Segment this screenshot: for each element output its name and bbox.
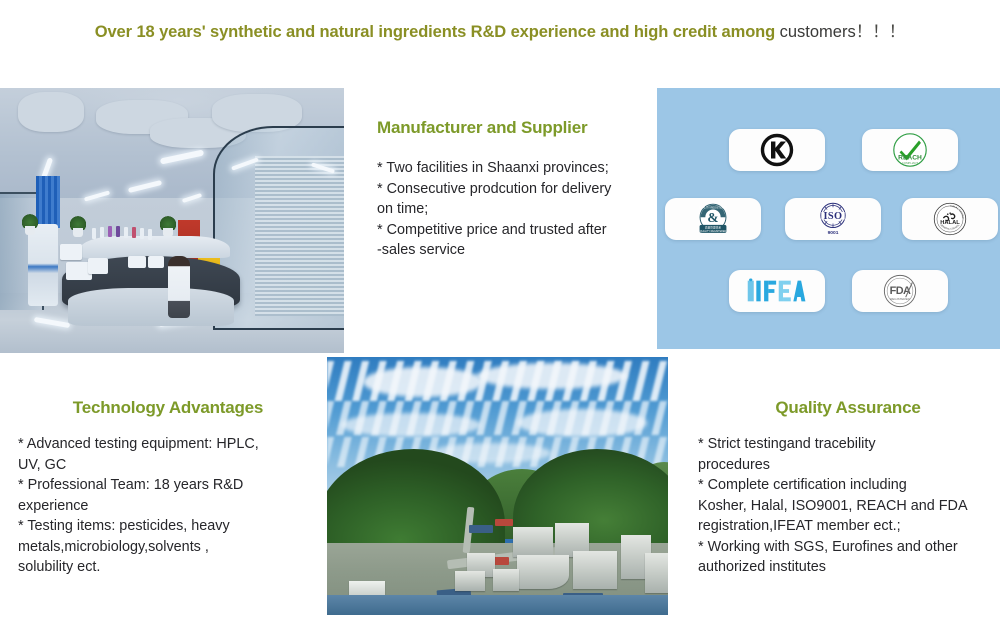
manufacturer-title: Manufacturer and Supplier [377,118,649,138]
quality-seal-icon: QUALITY REGISTERED & 质量管理体系 QUALITY REGI… [692,202,734,236]
laboratory-photo [0,88,344,353]
svg-text:COMPLIANT: COMPLIANT [902,161,918,165]
certification-badge-quality-seal[interactable]: QUALITY REGISTERED & 质量管理体系 QUALITY REGI… [665,198,761,240]
roof [495,519,513,526]
svg-text:HALAL: HALAL [940,220,960,226]
lab-bench-cabinets [68,288,234,326]
page-title: Over 18 years' synthetic and natural ing… [0,22,1000,42]
building [349,581,385,595]
cloud [477,363,627,389]
svg-text:ISO: ISO [824,211,843,222]
svg-text:QUALITY REGISTERED: QUALITY REGISTERED [699,205,728,209]
building [513,527,553,557]
technology-body: * Advanced testing equipment: HPLC, UV, … [18,434,318,578]
certification-badge-reach[interactable]: REACH COMPLIANT [862,129,958,171]
aerial-town-photo [327,357,668,615]
certification-grid: REACH COMPLIANT QUALITY REGISTERED & 质量管… [657,88,1000,349]
cloud [517,409,647,437]
certification-badge-fda[interactable]: FDA REGISTERED [852,270,948,312]
roof [469,525,493,533]
manufacturer-section: Manufacturer and Supplier * Two faciliti… [377,118,649,261]
iso-9001-icon: ISO 9001 [813,201,853,237]
certification-badge-halal[interactable]: HALAL CERTIFIED MARK HALAL GENERAL COUNC… [902,198,998,240]
reagent-bottle [140,228,144,239]
cloud [341,413,481,437]
headline-dark-text: customers [780,23,856,41]
headline-green-text: Over 18 years' synthetic and natural ing… [95,23,780,41]
reagent-bottle [116,226,120,237]
promo-banner: Over 18 years' synthetic and natural ing… [0,0,1000,641]
building [455,571,485,591]
lab-technician [168,256,190,318]
building [493,569,519,591]
building [645,553,668,593]
headline-exclamations: ！！！ [856,23,906,41]
reach-check-icon: REACH COMPLIANT [892,132,928,168]
lab-instrument [128,256,146,268]
blue-curtain [36,176,60,228]
quality-body: * Strict testingand tracebility procedur… [698,434,998,578]
certification-panel: REACH COMPLIANT QUALITY REGISTERED & 质量管… [657,88,1000,349]
technology-section: Technology Advantages * Advanced testing… [18,398,318,578]
reagent-bottle [132,227,136,238]
lab-instrument [60,244,82,260]
building [573,551,617,589]
refrigerator [28,224,58,306]
technology-title: Technology Advantages [18,398,318,418]
manufacturer-body: * Two facilities in Shaanxi provinces; *… [377,158,649,261]
lab-instrument [88,258,108,274]
quality-title: Quality Assurance [698,398,998,418]
reagent-bottle [100,227,104,238]
lab-duct [18,92,84,132]
plant-pot [73,228,83,237]
svg-text:FDA: FDA [890,285,911,297]
window-blinds [255,156,344,316]
cloud [363,367,483,397]
reagent-bottle [124,227,128,238]
reagent-bottle [148,229,152,240]
ifeat-icon [746,277,808,305]
certification-badge-ifeat[interactable] [729,270,825,312]
reagent-bottle [108,226,112,237]
plant-pot [25,226,35,235]
building [517,555,569,589]
quality-section: Quality Assurance * Strict testingand tr… [698,398,998,578]
svg-text:&: & [707,210,718,225]
reagent-bottle [92,228,96,239]
lab-shelf [80,236,230,258]
svg-text:QUALITY REGISTERED: QUALITY REGISTERED [700,230,727,233]
kosher-k-icon [760,133,794,167]
svg-text:REGISTERED: REGISTERED [890,297,910,301]
river [327,595,668,615]
halal-icon: HALAL CERTIFIED MARK HALAL GENERAL COUNC… [932,201,968,237]
svg-text:质量管理体系: 质量管理体系 [705,225,721,229]
certification-badge-kosher[interactable] [729,129,825,171]
svg-text:9001: 9001 [828,230,839,236]
fda-icon: FDA REGISTERED [881,273,919,309]
lab-instrument [148,256,164,268]
certification-badge-iso[interactable]: ISO 9001 [785,198,881,240]
